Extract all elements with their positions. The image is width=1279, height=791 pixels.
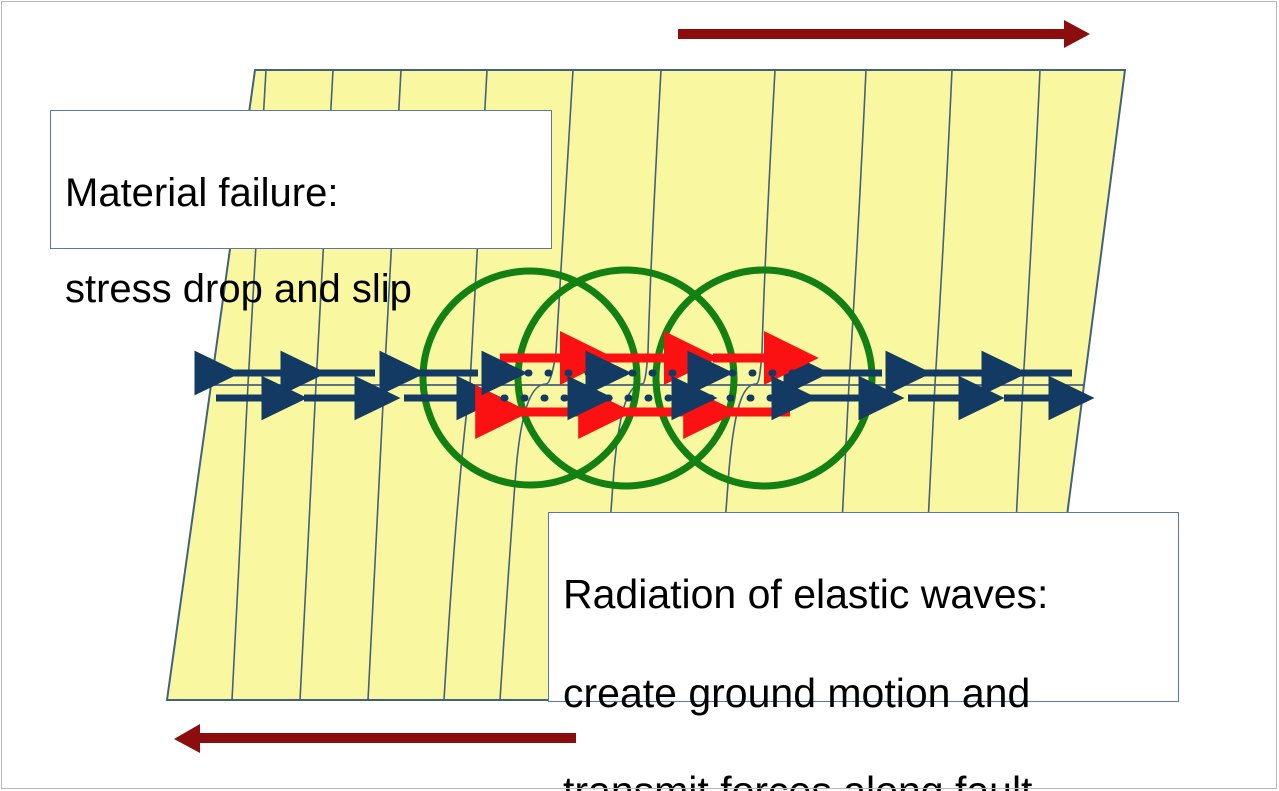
bottom-driver-arrow — [174, 724, 576, 753]
callout-line-3: transmit forces along fault — [563, 767, 1164, 791]
callout-line-1: Material failure: — [65, 169, 537, 217]
callout-line-1: Radiation of elastic waves: — [563, 570, 1164, 619]
callout-line-2: create ground motion and — [563, 669, 1164, 718]
callout-line-2: stress drop and slip — [65, 265, 537, 313]
callout-material-failure: Material failure: stress drop and slip — [50, 110, 552, 249]
top-driver-arrow — [678, 20, 1090, 48]
callout-radiation-of-elastic-waves: Radiation of elastic waves: create groun… — [548, 512, 1179, 702]
slide-canvas: Material failure: stress drop and slip R… — [0, 0, 1279, 791]
